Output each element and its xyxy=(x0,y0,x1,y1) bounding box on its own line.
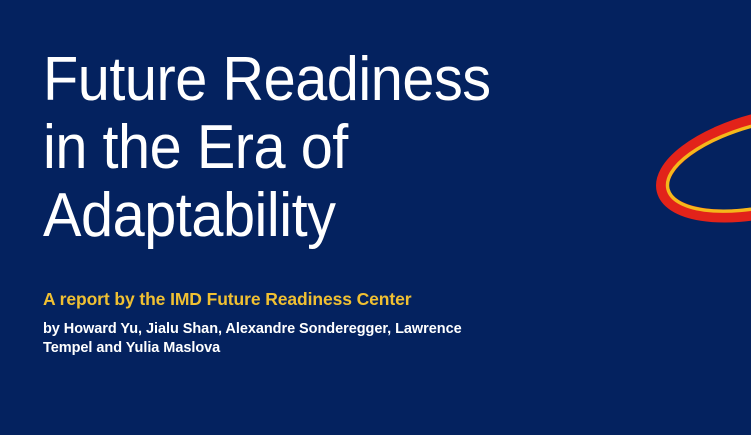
cover-authors: by Howard Yu, Jialu Shan, Alexandre Sond… xyxy=(43,310,483,357)
report-cover-page: Future Readiness in the Era of Adaptabil… xyxy=(0,0,751,435)
cover-subtitle: A report by the IMD Future Readiness Cen… xyxy=(43,250,683,310)
page-title: Future Readiness in the Era of Adaptabil… xyxy=(43,46,638,250)
cover-text-block: Future Readiness in the Era of Adaptabil… xyxy=(43,46,683,357)
